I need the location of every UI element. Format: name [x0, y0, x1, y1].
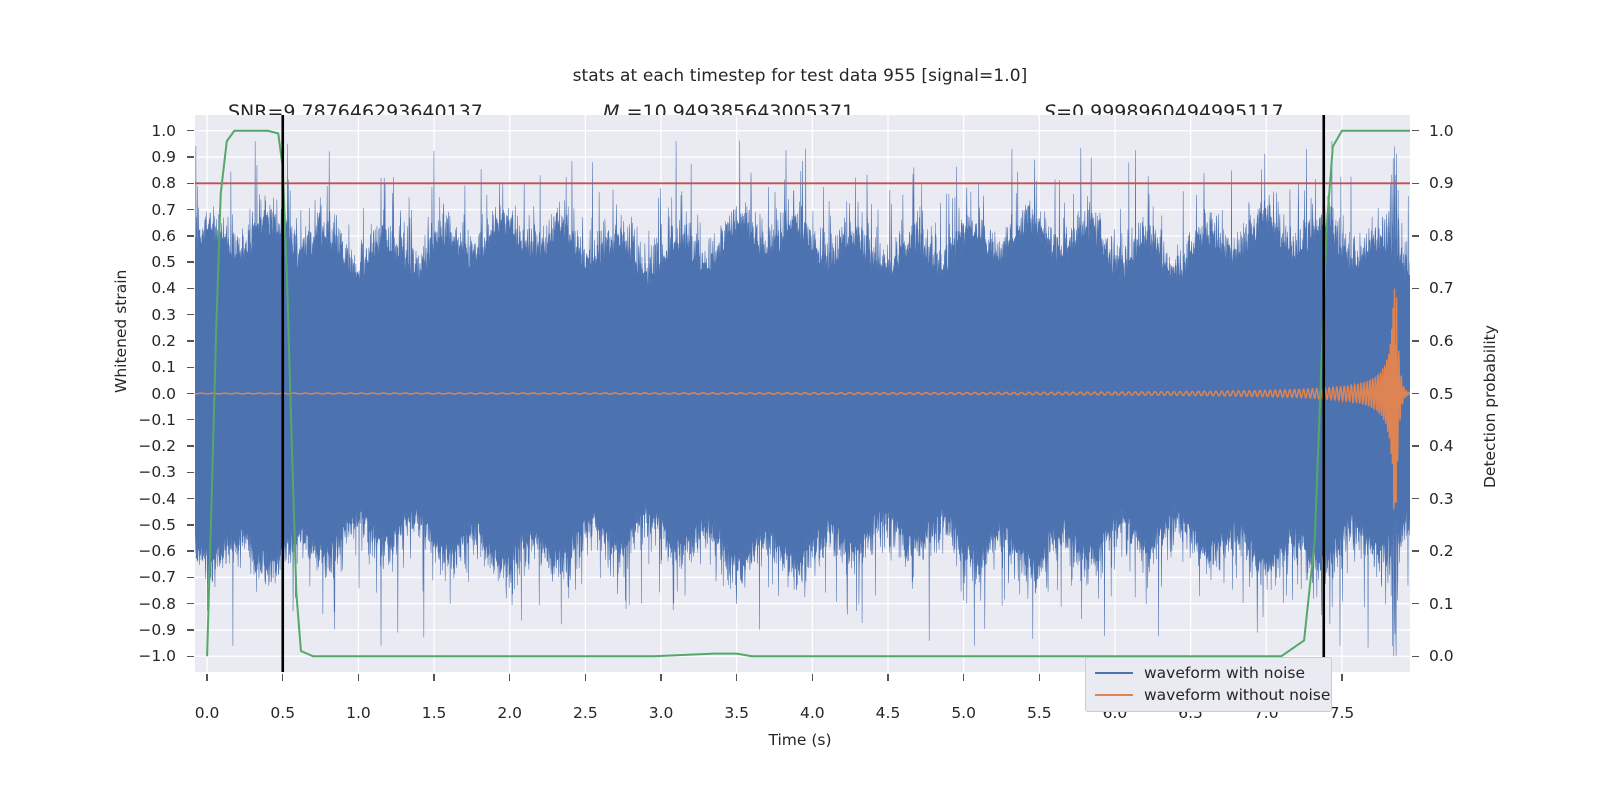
- y-axis-right-tick-mark: [1412, 288, 1419, 289]
- y-axis-left-tick-label: −0.3: [132, 463, 176, 481]
- y-axis-right-tick-mark: [1412, 183, 1419, 184]
- x-axis-tick-mark: [812, 674, 813, 681]
- y-axis-right-tick-label: 0.7: [1429, 279, 1475, 297]
- legend-label-waveform-without-noise: waveform without noise: [1144, 686, 1330, 704]
- y-axis-right-tick-label: 0.2: [1429, 542, 1475, 560]
- y-axis-left-tick-mark: [187, 445, 194, 446]
- legend: waveform with noise waveform without noi…: [1085, 657, 1332, 712]
- x-axis-tick-mark: [887, 674, 888, 681]
- y-axis-left-tick-mark: [187, 209, 194, 210]
- y-axis-left-tick-label: 1.0: [132, 122, 176, 140]
- y-axis-left-tick-label: 0.2: [132, 332, 176, 350]
- y-axis-right-tick-mark: [1412, 550, 1419, 551]
- y-axis-right-tick-mark: [1412, 656, 1419, 657]
- y-axis-left-tick-label: −0.5: [132, 516, 176, 534]
- y-axis-left-tick-label: −0.6: [132, 542, 176, 560]
- chart-title: stats at each timestep for test data 955…: [0, 66, 1600, 86]
- y-axis-right-tick-label: 0.5: [1429, 385, 1475, 403]
- y-axis-left-tick-label: −0.7: [132, 568, 176, 586]
- x-axis-tick-mark: [509, 674, 510, 681]
- x-axis-tick-label: 2.0: [475, 704, 545, 722]
- x-axis-tick-mark: [282, 674, 283, 681]
- y-axis-left-tick-label: 0.0: [132, 385, 176, 403]
- plot-area: [195, 115, 1410, 672]
- y-axis-right-tick-mark: [1412, 603, 1419, 604]
- y-axis-left-tick-mark: [187, 393, 194, 394]
- y-axis-left-tick-mark: [187, 472, 194, 473]
- y-axis-left-tick-label: −0.2: [132, 437, 176, 455]
- y-axis-left-tick-mark: [187, 340, 194, 341]
- x-axis-tick-label: 5.5: [1004, 704, 1074, 722]
- y-axis-left-tick-mark: [187, 261, 194, 262]
- y-axis-right-tick-label: 0.1: [1429, 595, 1475, 613]
- x-axis-tick-mark: [585, 674, 586, 681]
- x-axis-tick-label: 0.5: [248, 704, 318, 722]
- y-axis-left-title: Whitened strain: [112, 270, 130, 393]
- y-axis-right-tick-mark: [1412, 498, 1419, 499]
- legend-item-waveform-without-noise: waveform without noise: [1086, 684, 1331, 706]
- y-axis-left-tick-label: −0.8: [132, 595, 176, 613]
- y-axis-left-tick-label: −0.1: [132, 411, 176, 429]
- y-axis-left-tick-mark: [187, 629, 194, 630]
- x-axis-tick-label: 1.5: [399, 704, 469, 722]
- legend-swatch-orange-icon: [1095, 694, 1133, 696]
- y-axis-left-tick-label: −0.4: [132, 490, 176, 508]
- y-axis-right-tick-mark: [1412, 340, 1419, 341]
- x-axis-tick-label: 4.0: [777, 704, 847, 722]
- y-axis-left-tick-label: −0.9: [132, 621, 176, 639]
- y-axis-left-tick-mark: [187, 288, 194, 289]
- x-axis-tick-mark: [1039, 674, 1040, 681]
- x-axis-tick-mark: [1341, 674, 1342, 681]
- x-axis-tick-mark: [358, 674, 359, 681]
- y-axis-right-tick-label: 1.0: [1429, 122, 1475, 140]
- y-axis-left-tick-label: 0.3: [132, 306, 176, 324]
- series-waveform-with-noise: [195, 141, 1410, 656]
- x-axis-tick-label: 0.0: [172, 704, 242, 722]
- y-axis-left-tick-label: 0.1: [132, 358, 176, 376]
- y-axis-right-tick-label: 0.3: [1429, 490, 1475, 508]
- y-axis-right-tick-label: 0.8: [1429, 227, 1475, 245]
- y-axis-left-tick-mark: [187, 156, 194, 157]
- x-axis-tick-label: 3.0: [626, 704, 696, 722]
- y-axis-left-tick-mark: [187, 524, 194, 525]
- figure-canvas: stats at each timestep for test data 955…: [0, 0, 1600, 800]
- x-axis-tick-label: 4.5: [853, 704, 923, 722]
- x-axis-tick-mark: [433, 674, 434, 681]
- y-axis-left-tick-label: 0.4: [132, 279, 176, 297]
- y-axis-right-tick-mark: [1412, 130, 1419, 131]
- legend-swatch-blue-icon: [1095, 672, 1133, 674]
- y-axis-left-tick-mark: [187, 498, 194, 499]
- y-axis-left-tick-mark: [187, 183, 194, 184]
- plot-svg-layer: [195, 115, 1410, 672]
- y-axis-right-tick-mark: [1412, 445, 1419, 446]
- y-axis-left-tick-mark: [187, 367, 194, 368]
- y-axis-right-title: Detection probability: [1481, 325, 1499, 488]
- y-axis-right-tick-label: 0.4: [1429, 437, 1475, 455]
- x-axis-tick-label: 3.5: [702, 704, 772, 722]
- x-axis-tick-mark: [660, 674, 661, 681]
- y-axis-right-tick-label: 0.6: [1429, 332, 1475, 350]
- x-axis-tick-label: 1.0: [323, 704, 393, 722]
- y-axis-right-tick-mark: [1412, 235, 1419, 236]
- y-axis-left-tick-mark: [187, 314, 194, 315]
- y-axis-left-tick-mark: [187, 550, 194, 551]
- x-axis-tick-label: 5.0: [929, 704, 999, 722]
- y-axis-left-tick-mark: [187, 419, 194, 420]
- x-axis-tick-label: 2.5: [550, 704, 620, 722]
- noise-band: [195, 141, 1410, 656]
- y-axis-left-tick-mark: [187, 656, 194, 657]
- y-axis-left-tick-label: 0.7: [132, 201, 176, 219]
- y-axis-left-tick-label: 0.8: [132, 174, 176, 192]
- y-axis-right-tick-label: 0.0: [1429, 647, 1475, 665]
- x-axis-title: Time (s): [0, 731, 1600, 749]
- y-axis-right-tick-label: 0.9: [1429, 174, 1475, 192]
- x-axis-tick-mark: [206, 674, 207, 681]
- legend-label-waveform-with-noise: waveform with noise: [1144, 664, 1305, 682]
- y-axis-left-tick-label: −1.0: [132, 647, 176, 665]
- legend-item-waveform-with-noise: waveform with noise: [1086, 662, 1331, 684]
- x-axis-tick-mark: [963, 674, 964, 681]
- y-axis-left-tick-label: 0.5: [132, 253, 176, 271]
- y-axis-left-tick-mark: [187, 130, 194, 131]
- y-axis-left-tick-label: 0.9: [132, 148, 176, 166]
- y-axis-right-tick-mark: [1412, 393, 1419, 394]
- y-axis-left-tick-mark: [187, 603, 194, 604]
- y-axis-left-tick-label: 0.6: [132, 227, 176, 245]
- x-axis-tick-mark: [736, 674, 737, 681]
- y-axis-left-tick-mark: [187, 577, 194, 578]
- y-axis-left-tick-mark: [187, 235, 194, 236]
